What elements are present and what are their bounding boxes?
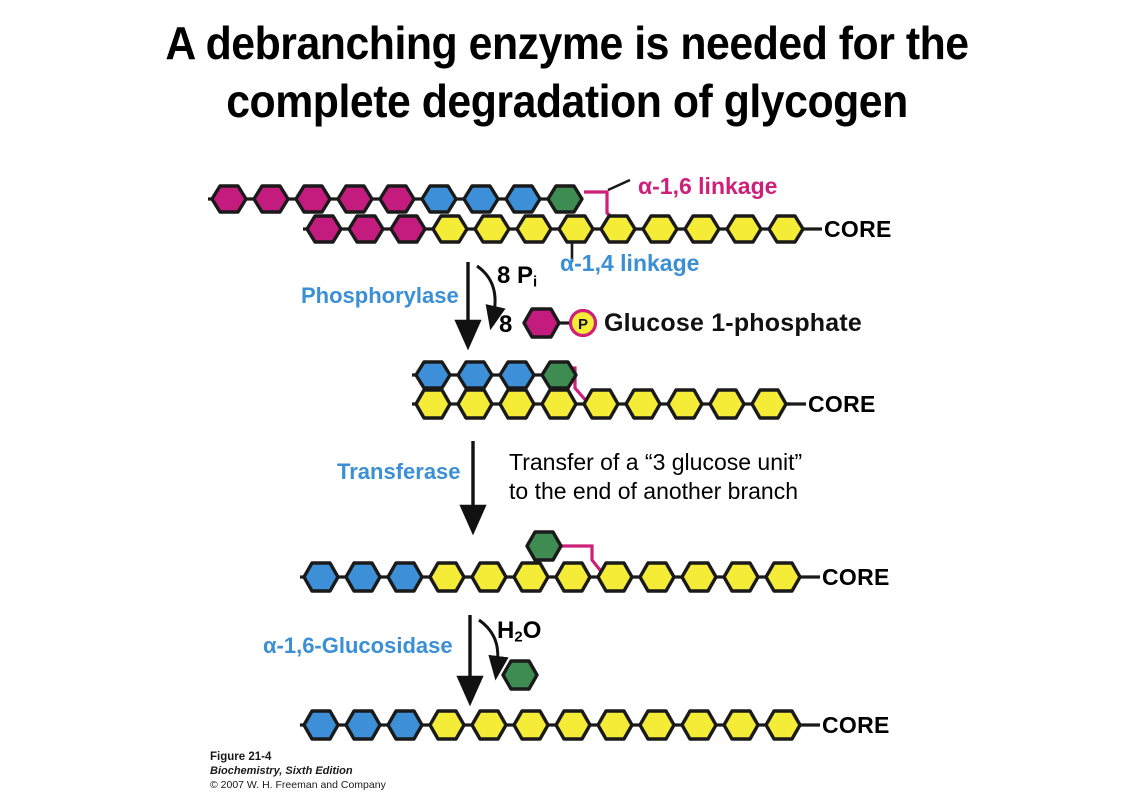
caption-figure-number: Figure 21-4 [210, 750, 386, 764]
alpha-1-6-glucosidase-label: α-1,6-Glucosidase [263, 633, 453, 659]
stage-3-structure [300, 532, 820, 591]
hexagon-blue [500, 362, 534, 388]
hexagon-yellow [601, 216, 635, 242]
hexagon-blue [458, 362, 492, 388]
alpha-1-6-linkage-label: α-1,6 linkage [638, 173, 777, 200]
hexagon-yellow [542, 390, 576, 418]
hexagon-yellow [556, 711, 590, 739]
transfer-description-line-1: Transfer of a “3 glucose unit” [509, 449, 802, 475]
hexagon-yellow [430, 711, 464, 739]
hexagon-blue [422, 186, 456, 212]
hexagon-yellow [724, 711, 758, 739]
hexagon-blue [304, 563, 338, 591]
hexagon-yellow [752, 390, 786, 418]
free-glucose-glyph [503, 661, 537, 689]
hexagon-blue [464, 186, 498, 212]
hexagon-yellow [472, 711, 506, 739]
hexagon-yellow [598, 563, 632, 591]
hexagon-blue [304, 711, 338, 739]
hexagon-yellow [769, 216, 803, 242]
g1p-count-label: 8 [499, 311, 512, 339]
hexagon-magenta [524, 309, 559, 337]
hexagon-blue [416, 362, 450, 388]
caption-book-title: Biochemistry, Sixth Edition [210, 764, 386, 778]
water-substrate-label: H2O [497, 617, 541, 645]
stage-3-upper-row [527, 532, 561, 560]
pi-substrate-label: 8 Pi [497, 262, 537, 290]
hexagon-green [548, 186, 582, 212]
stage-1-upper-row [212, 186, 582, 212]
core-label-stage-2: CORE [808, 391, 876, 418]
glycogen-degradation-figure: P [0, 0, 1134, 800]
transfer-description: Transfer of a “3 glucose unit” to the en… [509, 448, 869, 506]
hexagon-yellow [430, 563, 464, 591]
hexagon-blue [346, 563, 380, 591]
glucosidase-arrow [470, 615, 498, 690]
hexagon-yellow [475, 216, 509, 242]
hexagon-yellow [584, 390, 618, 418]
hexagon-yellow [472, 563, 506, 591]
hexagon-yellow [626, 390, 660, 418]
hexagon-magenta [380, 186, 414, 212]
caption-copyright: © 2007 W. H. Freeman and Company [210, 778, 386, 792]
transfer-description-line-2: to the end of another branch [509, 478, 798, 504]
stage-2-structure [412, 362, 806, 418]
hexagon-yellow [500, 390, 534, 418]
stage-2-lower-row [416, 390, 786, 418]
glucose-1-phosphate-label: Glucose 1-phosphate [604, 309, 862, 338]
hexagon-magenta [338, 186, 372, 212]
hexagon-yellow [640, 711, 674, 739]
hexagon-green [503, 661, 537, 689]
hexagon-magenta [212, 186, 246, 212]
hexagon-yellow [766, 711, 800, 739]
phosphorylase-label: Phosphorylase [301, 283, 459, 309]
hexagon-yellow [556, 563, 590, 591]
hexagon-magenta [307, 216, 341, 242]
hexagon-yellow [458, 390, 492, 418]
hexagon-yellow [433, 216, 467, 242]
hexagon-magenta [296, 186, 330, 212]
stage-4-structure [300, 711, 820, 739]
phosphorylase-arrow [468, 262, 495, 334]
hexagon-blue [388, 711, 422, 739]
hexagon-yellow [640, 563, 674, 591]
hexagon-magenta [391, 216, 425, 242]
hexagon-blue [506, 186, 540, 212]
hexagon-yellow [685, 216, 719, 242]
transferase-label: Transferase [337, 459, 461, 485]
hexagon-magenta [254, 186, 288, 212]
hexagon-yellow [514, 563, 548, 591]
hexagon-yellow [710, 390, 744, 418]
hexagon-yellow [682, 711, 716, 739]
glucose-1-phosphate-glyph: P [524, 309, 596, 337]
hexagon-yellow [766, 563, 800, 591]
hexagon-yellow [682, 563, 716, 591]
hexagon-yellow [559, 216, 593, 242]
phosphate-letter: P [578, 316, 588, 333]
core-label-stage-4: CORE [822, 712, 890, 739]
hexagon-yellow [598, 711, 632, 739]
hexagon-yellow [727, 216, 761, 242]
hexagon-yellow [643, 216, 677, 242]
core-label-stage-1: CORE [824, 216, 892, 243]
hexagon-blue [346, 711, 380, 739]
alpha-1-4-linkage-label: α-1,4 linkage [560, 250, 699, 277]
hexagon-yellow [514, 711, 548, 739]
hexagon-green [527, 532, 561, 560]
figure-caption: Figure 21-4 Biochemistry, Sixth Edition … [210, 750, 386, 792]
hexagon-yellow [668, 390, 702, 418]
hexagon-yellow [517, 216, 551, 242]
core-label-stage-3: CORE [822, 564, 890, 591]
hexagon-magenta [349, 216, 383, 242]
hexagon-yellow [724, 563, 758, 591]
hexagon-blue [388, 563, 422, 591]
hexagon-green [542, 362, 576, 388]
hexagon-yellow [416, 390, 450, 418]
